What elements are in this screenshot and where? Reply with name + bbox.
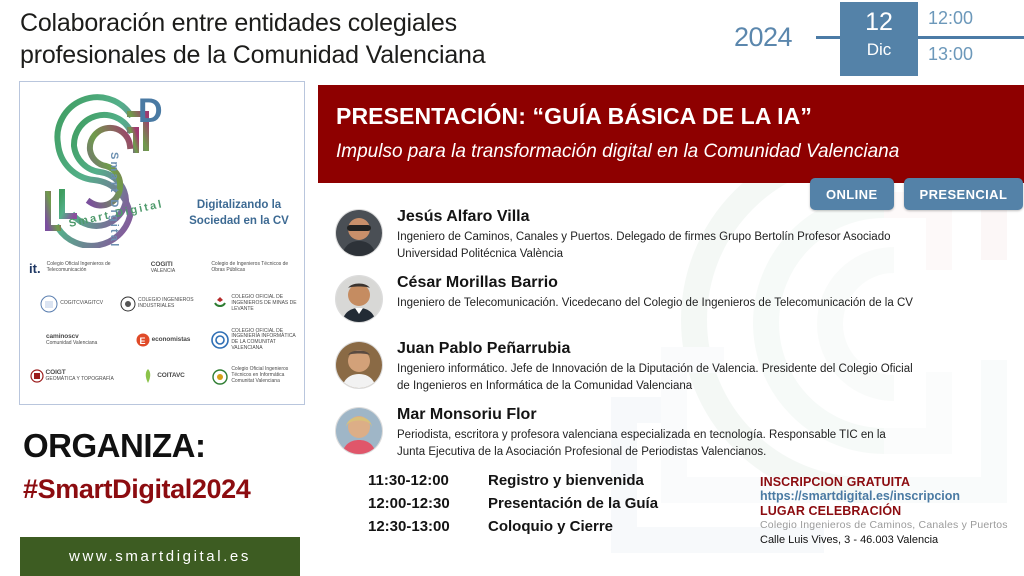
avatar: [335, 341, 383, 389]
partner-logo-row: it. Colegio Oficial Ingenieros de Teleco…: [26, 250, 300, 286]
poster-canvas: Colaboración entre entidades colegiales …: [0, 0, 1024, 576]
avatar-photo-icon: [336, 408, 382, 454]
page-title: Colaboración entre entidades colegiales …: [20, 8, 720, 72]
date-rule-left: [816, 36, 842, 39]
venue-name: Colegio Ingenieros de Caminos, Canales y…: [760, 518, 1022, 533]
partner-logos-grid: it. Colegio Oficial Ingenieros de Teleco…: [26, 250, 300, 398]
schedule-time: 12:30-13:00: [368, 518, 488, 535]
crest-icon: [211, 367, 229, 385]
schedule-row: 12:30-13:00 Coloquio y Cierre: [368, 518, 658, 535]
speaker-body: César Morillas Barrio Ingeniero de Telec…: [397, 273, 915, 312]
partner-logo-sub: Comunidad Valenciana: [46, 340, 97, 346]
logo-panel: D Smart Digital Smart Digital Digitaliza…: [19, 81, 305, 405]
avatar-photo-icon: [336, 210, 382, 256]
partner-logo: COGITIVALENCIA: [120, 251, 206, 285]
partner-logo-name: caminoscvComunidad Valenciana: [46, 333, 97, 346]
partner-logo-name: COGITIVALENCIA: [151, 261, 175, 274]
schedule-time: 11:30-12:00: [368, 472, 488, 489]
speaker-name: Mar Monsoriu Flor: [397, 405, 915, 425]
modality-pills: ONLINE PRESENCIAL: [810, 178, 1023, 210]
venue-heading: LUGAR CELEBRACIÓN: [760, 504, 1022, 518]
pill-presencial[interactable]: PRESENCIAL: [904, 178, 1024, 210]
time-start: 12:00: [928, 8, 973, 29]
avatar: [335, 209, 383, 257]
speaker-body: Juan Pablo Peñarrubia Ingeniero informát…: [397, 339, 915, 394]
partner-logo-name: COIGTGEOMÁTICA Y TOPOGRAFÍA: [46, 369, 114, 382]
speaker-name: Jesús Alfaro Villa: [397, 207, 915, 227]
partner-logo: COIGTGEOMÁTICA Y TOPOGRAFÍA: [29, 359, 115, 393]
partner-logo-name: economistas: [152, 336, 191, 343]
schedule-item: Coloquio y Cierre: [488, 518, 613, 535]
economistas-icon: E: [136, 333, 150, 347]
speaker-body: Jesús Alfaro Villa Ingeniero de Caminos,…: [397, 207, 915, 262]
pill-online[interactable]: ONLINE: [810, 178, 894, 210]
partner-logo-sub: GEOMÁTICA Y TOPOGRAFÍA: [46, 376, 114, 382]
date-day-box: 12 Dic: [840, 2, 918, 76]
logo-wordmark-vertical: Smart Digital: [108, 152, 120, 248]
speaker-description: Periodista, escritora y profesora valenc…: [397, 427, 915, 460]
organiza-hashtag: #SmartDigital2024: [23, 474, 250, 505]
partner-logo: COGITCV/AGITCV: [29, 287, 115, 321]
crest-icon: [211, 295, 229, 313]
schedule-item: Registro y bienvenida: [488, 472, 644, 489]
avatar: [335, 275, 383, 323]
speaker-description: Ingeniero de Telecomunicación. Vicedecan…: [397, 295, 915, 312]
svg-text:E: E: [139, 336, 145, 346]
speaker-item: César Morillas Barrio Ingeniero de Telec…: [335, 273, 915, 333]
crest-icon: [120, 296, 136, 312]
venue-address: Calle Luis Vives, 3 - 46.003 Valencia: [760, 533, 1022, 549]
date-badge: 2024 12 Dic 12:00 13:00: [720, 0, 1024, 78]
date-rule-right: [918, 36, 1024, 39]
leaf-icon: [141, 368, 155, 384]
partner-logo: E economistas: [120, 323, 206, 357]
partner-logo: caminoscvComunidad Valenciana: [29, 323, 115, 357]
partner-logo-name: Colegio de Ingenieros Técnicos de Obras …: [211, 262, 297, 274]
speaker-description: Ingeniero de Caminos, Canales y Puertos.…: [397, 229, 915, 262]
partner-logo-row: COIGTGEOMÁTICA Y TOPOGRAFÍA COITAVC Cole…: [26, 358, 300, 394]
partner-logo: COLEGIO INGENIEROS INDUSTRIALES: [120, 287, 206, 321]
page-title-line2: profesionales de la Comunidad Valenciana: [20, 40, 720, 72]
partner-logo-name: COITAVC: [157, 372, 185, 379]
logo-tagline-line2: Sociedad en la CV: [189, 215, 289, 227]
schedule-list: 11:30-12:00 Registro y bienvenida 12:00-…: [368, 472, 658, 541]
schedule-row: 11:30-12:00 Registro y bienvenida: [368, 472, 658, 489]
presentation-banner: PRESENTACIÓN: “GUÍA BÁSICA DE LA IA” Imp…: [318, 85, 1024, 183]
partner-logo-name: COLEGIO OFICIAL DE INGENIERÍA INFORMÁTIC…: [231, 329, 297, 352]
speaker-name: César Morillas Barrio: [397, 273, 915, 293]
registration-heading: INSCRIPCION GRATUITA: [760, 475, 1022, 489]
partner-logo: COITAVC: [120, 359, 206, 393]
organiza-label: ORGANIZA:: [23, 427, 205, 465]
crest-icon: [40, 295, 58, 313]
partner-logo: COLEGIO OFICIAL DE INGENIERÍA INFORMÁTIC…: [211, 323, 297, 357]
partner-logo-row: COGITCV/AGITCV COLEGIO INGENIEROS INDUST…: [26, 286, 300, 322]
crest-icon: [30, 369, 44, 383]
logo-tagline: Digitalizando la Sociedad en la CV: [180, 198, 298, 229]
speaker-item: Jesús Alfaro Villa Ingeniero de Caminos,…: [335, 207, 915, 267]
time-end: 13:00: [928, 44, 973, 65]
avatar: [335, 407, 383, 455]
schedule-time: 12:00-12:30: [368, 495, 488, 512]
date-month: Dic: [840, 40, 918, 60]
date-day: 12: [840, 2, 918, 40]
date-year: 2024: [734, 22, 792, 53]
info-box: INSCRIPCION GRATUITA https://smartdigita…: [760, 475, 1022, 549]
svg-text:it.: it.: [29, 261, 41, 276]
banner-title: PRESENTACIÓN: “GUÍA BÁSICA DE LA IA”: [336, 103, 812, 130]
schedule-item: Presentación de la Guía: [488, 495, 658, 512]
avatar-photo-icon: [336, 342, 382, 388]
page-title-line1: Colaboración entre entidades colegiales: [20, 9, 457, 37]
website-bar[interactable]: www.smartdigital.es: [20, 537, 300, 576]
logo-tagline-line1: Digitalizando la: [197, 199, 281, 211]
speaker-item: Juan Pablo Peñarrubia Ingeniero informát…: [335, 339, 915, 399]
banner-subtitle: Impulso para la transformación digital e…: [336, 141, 899, 163]
speaker-body: Mar Monsoriu Flor Periodista, escritora …: [397, 405, 915, 460]
schedule-row: 12:00-12:30 Presentación de la Guía: [368, 495, 658, 512]
speakers-list: Jesús Alfaro Villa Ingeniero de Caminos,…: [335, 207, 915, 471]
partner-mark-icon: it.: [29, 260, 45, 276]
speaker-item: Mar Monsoriu Flor Periodista, escritora …: [335, 405, 915, 465]
partner-logo-name: COLEGIO INGENIEROS INDUSTRIALES: [138, 298, 206, 310]
partner-logo-name: Colegio Oficial Ingenieros Técnicos en I…: [231, 367, 297, 384]
partner-logo-mark: economistas: [152, 336, 191, 343]
partner-logo: it. Colegio Oficial Ingenieros de Teleco…: [29, 251, 115, 285]
logo-letter-d: D: [138, 92, 163, 131]
speaker-description: Ingeniero informático. Jefe de Innovació…: [397, 361, 915, 394]
speaker-name: Juan Pablo Peñarrubia: [397, 339, 915, 359]
partner-logo: Colegio Oficial Ingenieros Técnicos en I…: [211, 359, 297, 393]
partner-logo: Colegio de Ingenieros Técnicos de Obras …: [211, 251, 297, 285]
avatar-photo-icon: [336, 276, 382, 322]
partner-logo: COLEGIO OFICIAL DE INGENIEROS DE MINAS D…: [211, 287, 297, 321]
partner-logo-row: caminoscvComunidad Valenciana E economis…: [26, 322, 300, 358]
registration-link[interactable]: https://smartdigital.es/inscripcion: [760, 489, 1022, 503]
partner-logo-name: COLEGIO OFICIAL DE INGENIEROS DE MINAS D…: [231, 295, 297, 312]
circle-icon: [211, 331, 229, 349]
partner-logo-name: Colegio Oficial Ingenieros de Telecomuni…: [47, 262, 115, 274]
partner-logo-name: COGITCV/AGITCV: [60, 301, 103, 307]
website-url[interactable]: www.smartdigital.es: [20, 537, 300, 576]
partner-logo-sub: VALENCIA: [151, 268, 175, 274]
partner-logo-mark: COITAVC: [157, 372, 185, 379]
